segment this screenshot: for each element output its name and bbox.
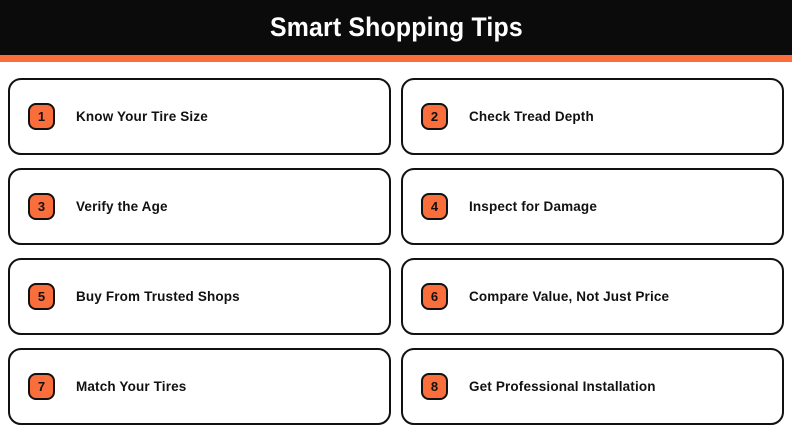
page-header: Smart Shopping Tips [0, 0, 792, 55]
tip-number-badge: 4 [421, 193, 448, 220]
tip-card-4[interactable]: 4 Inspect for Damage [401, 168, 784, 245]
page-title: Smart Shopping Tips [270, 12, 523, 43]
tip-card-2[interactable]: 2 Check Tread Depth [401, 78, 784, 155]
tip-number-badge: 8 [421, 373, 448, 400]
tip-card-1[interactable]: 1 Know Your Tire Size [8, 78, 391, 155]
tip-number-badge: 3 [28, 193, 55, 220]
tip-number-badge: 7 [28, 373, 55, 400]
tip-card-8[interactable]: 8 Get Professional Installation [401, 348, 784, 425]
tip-number-badge: 5 [28, 283, 55, 310]
tip-card-7[interactable]: 7 Match Your Tires [8, 348, 391, 425]
tip-number-badge: 2 [421, 103, 448, 130]
tip-label: Buy From Trusted Shops [76, 289, 240, 304]
tip-label: Compare Value, Not Just Price [469, 289, 669, 304]
tip-label: Verify the Age [76, 199, 168, 214]
tip-label: Get Professional Installation [469, 379, 656, 394]
tip-label: Match Your Tires [76, 379, 186, 394]
infographic-page: Smart Shopping Tips 1 Know Your Tire Siz… [0, 0, 792, 430]
tip-label: Check Tread Depth [469, 109, 594, 124]
tip-card-3[interactable]: 3 Verify the Age [8, 168, 391, 245]
tip-number-badge: 6 [421, 283, 448, 310]
tip-card-6[interactable]: 6 Compare Value, Not Just Price [401, 258, 784, 335]
tip-card-5[interactable]: 5 Buy From Trusted Shops [8, 258, 391, 335]
tip-label: Inspect for Damage [469, 199, 597, 214]
tip-label: Know Your Tire Size [76, 109, 208, 124]
header-accent-bar [0, 55, 792, 62]
tip-number-badge: 1 [28, 103, 55, 130]
tips-grid: 1 Know Your Tire Size 2 Check Tread Dept… [8, 78, 784, 425]
